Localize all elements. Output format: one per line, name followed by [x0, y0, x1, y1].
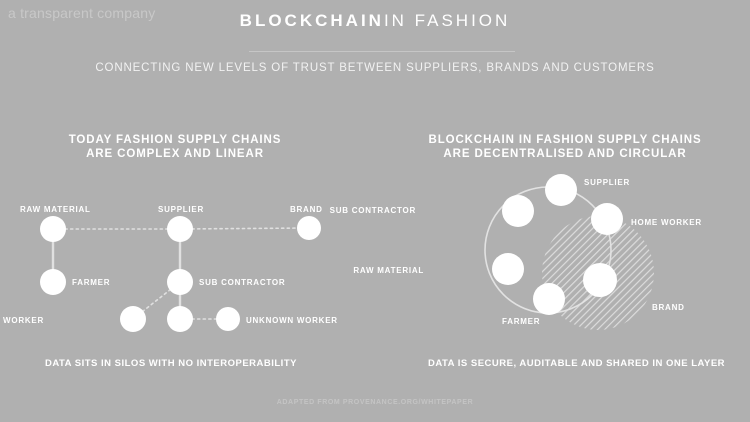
node-left-supplier[interactable] — [167, 216, 193, 242]
left-panel-caption: DATA SITS IN SILOS WITH NO INTEROPERABIL… — [45, 358, 297, 369]
node-label-left-home-worker: HOME WORKER — [0, 316, 44, 325]
node-left-brand[interactable] — [297, 216, 321, 240]
node-label-left-farmer: FARMER — [72, 278, 110, 287]
node-left-raw-material[interactable] — [40, 216, 66, 242]
node-label-right-brand: BRAND — [652, 303, 685, 312]
node-label-right-raw-material: RAW MATERIAL — [353, 266, 424, 275]
node-label-right-sub-contractor: SUB CONTRACTOR — [330, 206, 416, 215]
node-label-right-home-worker: HOME WORKER — [631, 218, 702, 227]
node-left-unknown-worker[interactable] — [216, 307, 240, 331]
node-label-left-brand: BRAND — [290, 205, 323, 214]
node-left-home-worker[interactable] — [120, 306, 146, 332]
node-left-farmer[interactable] — [40, 269, 66, 295]
node-label-left-sub-contractor: SUB CONTRACTOR — [199, 278, 285, 287]
node-label-left-raw-material: RAW MATERIAL — [20, 205, 91, 214]
node-right-brand[interactable] — [583, 263, 617, 297]
node-right-supplier[interactable] — [545, 174, 577, 206]
link-supplier-to-brand — [192, 228, 298, 229]
node-right-sub-contractor[interactable] — [502, 195, 534, 227]
node-right-raw-material[interactable] — [492, 253, 524, 285]
left-diagram-nodes — [40, 216, 321, 332]
infographic-root: a transparent company BLOCKCHAININ FASHI… — [0, 0, 750, 422]
node-left-sub-contractor[interactable] — [167, 269, 193, 295]
node-label-right-supplier: SUPPLIER — [584, 178, 630, 187]
node-left-factory[interactable] — [167, 306, 193, 332]
right-panel-caption: DATA IS SECURE, AUDITABLE AND SHARED IN … — [428, 358, 725, 369]
node-label-left-supplier: SUPPLIER — [158, 205, 204, 214]
node-right-home-worker[interactable] — [591, 203, 623, 235]
link-sub-contractor-to-home-worker — [142, 289, 170, 311]
footer-credit: ADAPTED FROM PROVENANCE.ORG/WHITEPAPER — [0, 399, 750, 406]
node-label-right-farmer: FARMER — [502, 317, 540, 326]
node-right-farmer[interactable] — [533, 283, 565, 315]
node-label-left-unknown-worker: UNKNOWN WORKER — [246, 316, 338, 325]
